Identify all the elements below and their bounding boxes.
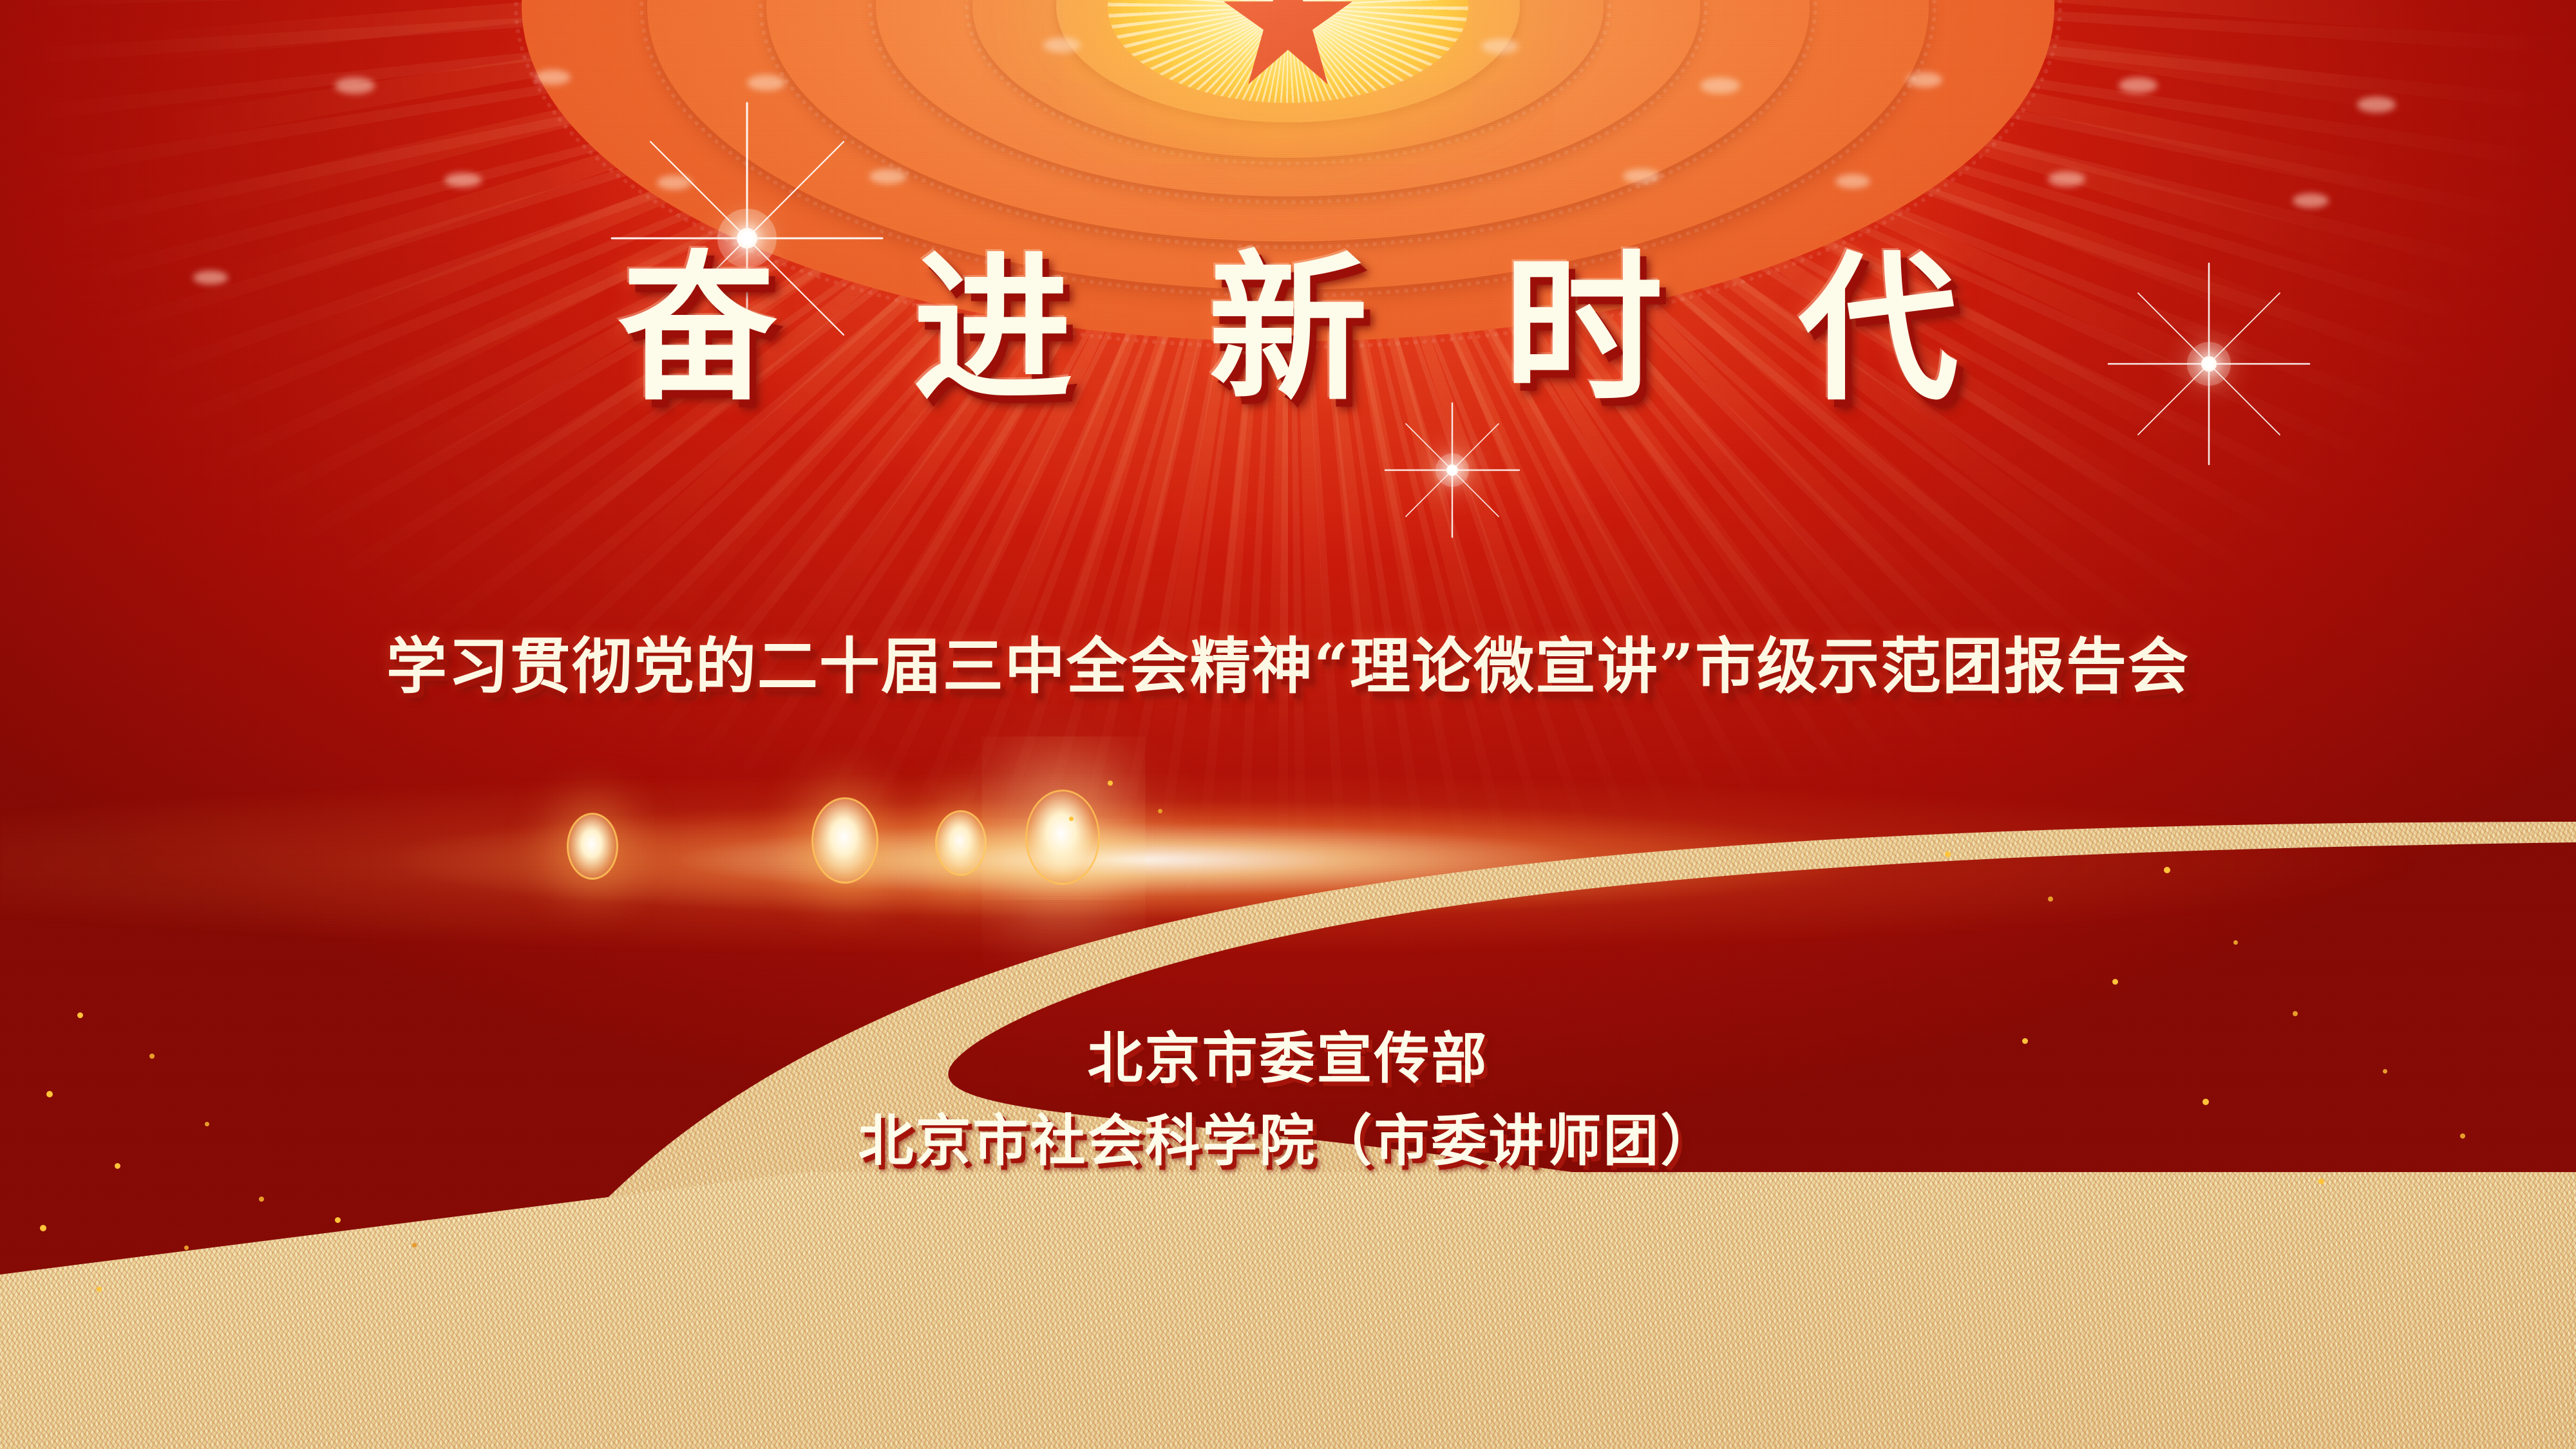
organizer-line-2: 北京市社会科学院（市委讲师团） (0, 1105, 2576, 1179)
organizer-line-1: 北京市委宣传部 (0, 1023, 2576, 1096)
poster-canvas: 奋 进 新 时 代 学习贯彻党的二十届三中全会精神“理论微宣讲”市级示范团报告会… (0, 0, 2576, 1449)
subtitle: 学习贯彻党的二十届三中全会精神“理论微宣讲”市级示范团报告会 (0, 636, 2576, 697)
organizer-block: 北京市委宣传部 北京市社会科学院（市委讲师团） (0, 1023, 2576, 1178)
main-title: 奋 进 新 时 代 (0, 250, 2576, 410)
